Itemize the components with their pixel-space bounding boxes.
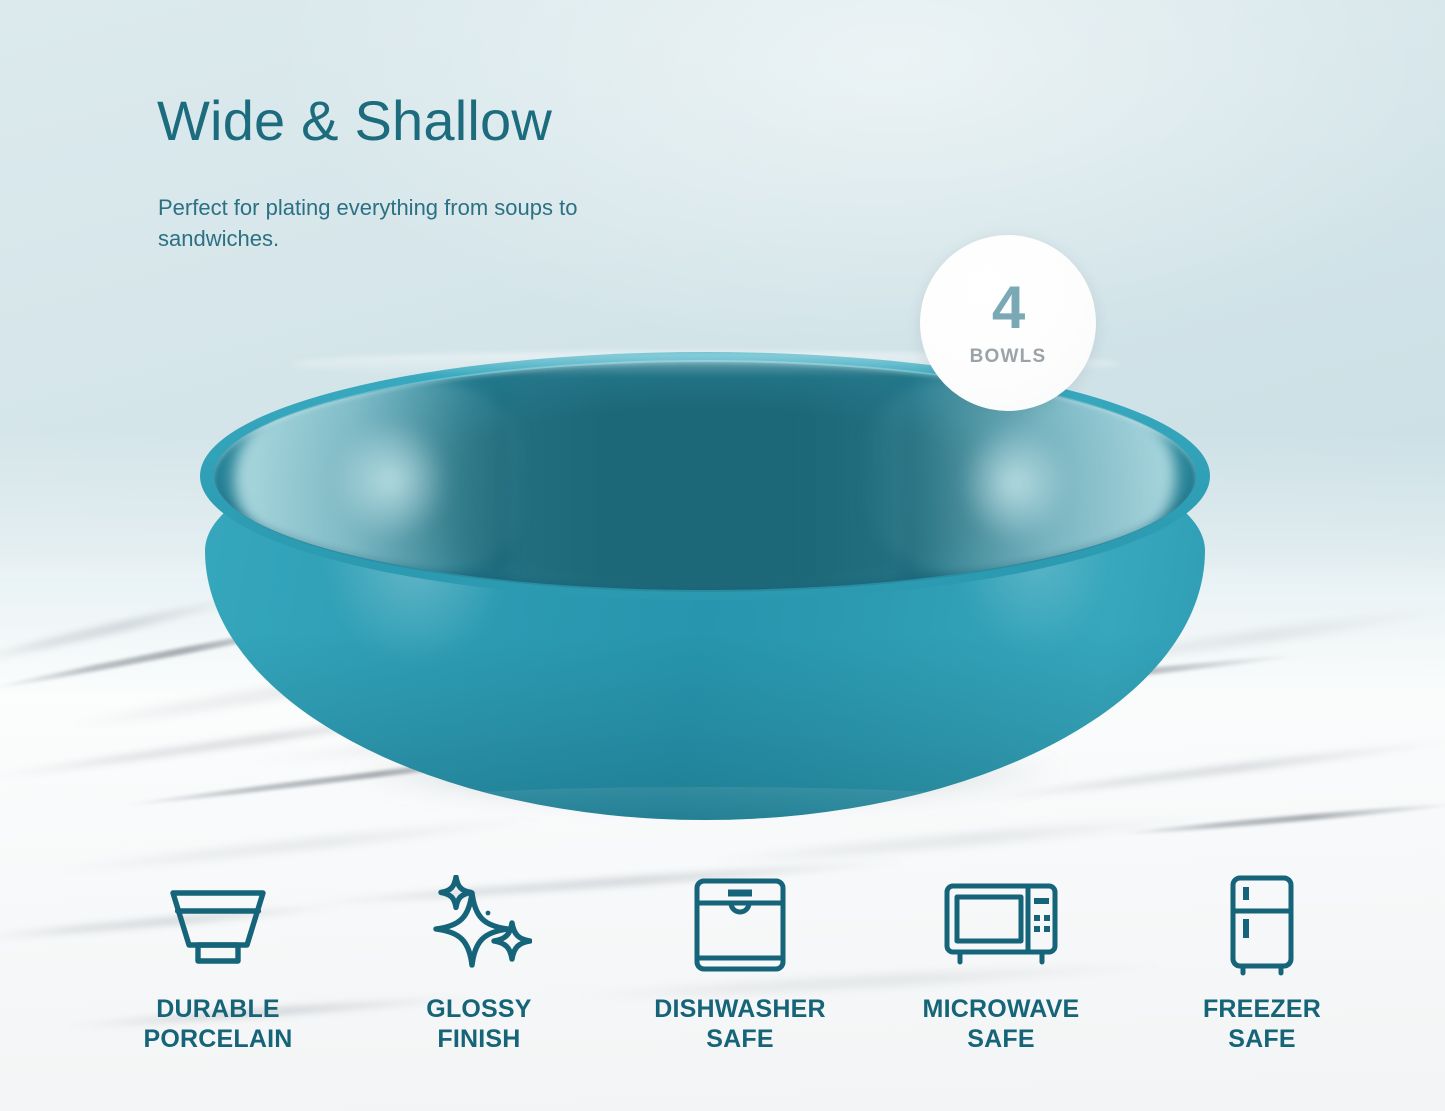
product-marketing-image: 4 BOWLS Wide & Shallow Perfect for plati… [0,0,1445,1111]
microwave-icon [942,872,1060,978]
feature-item-durable-porcelain: DURABLE PORCELAIN [100,872,336,1054]
feature-label: DISHWASHER SAFE [654,994,825,1054]
sparkle-icon [426,872,532,978]
feature-label: DURABLE PORCELAIN [143,994,292,1054]
refrigerator-icon [1223,872,1301,978]
badge-caption: BOWLS [970,346,1047,368]
dishwasher-icon [691,872,789,978]
feature-item-dishwasher-safe: DISHWASHER SAFE [622,872,858,1054]
feature-list: DURABLE PORCELAIN GLOSSY FINISH [100,872,1380,1082]
badge-count: 4 [992,278,1024,338]
bowl-foot-ring [365,787,1045,820]
feature-label: GLOSSY FINISH [426,994,531,1054]
feature-item-microwave-safe: MICROWAVE SAFE [883,872,1119,1054]
page-title: Wide & Shallow [157,88,552,153]
subtitle: Perfect for plating everything from soup… [158,192,628,254]
quantity-badge: 4 BOWLS [920,235,1096,411]
feature-item-glossy-finish: GLOSSY FINISH [361,872,597,1054]
bowl-icon [165,872,271,978]
feature-item-freezer-safe: FREEZER SAFE [1144,872,1380,1054]
feature-label: MICROWAVE SAFE [923,994,1080,1054]
feature-label: FREEZER SAFE [1203,994,1321,1054]
product-bowl [200,352,1212,828]
